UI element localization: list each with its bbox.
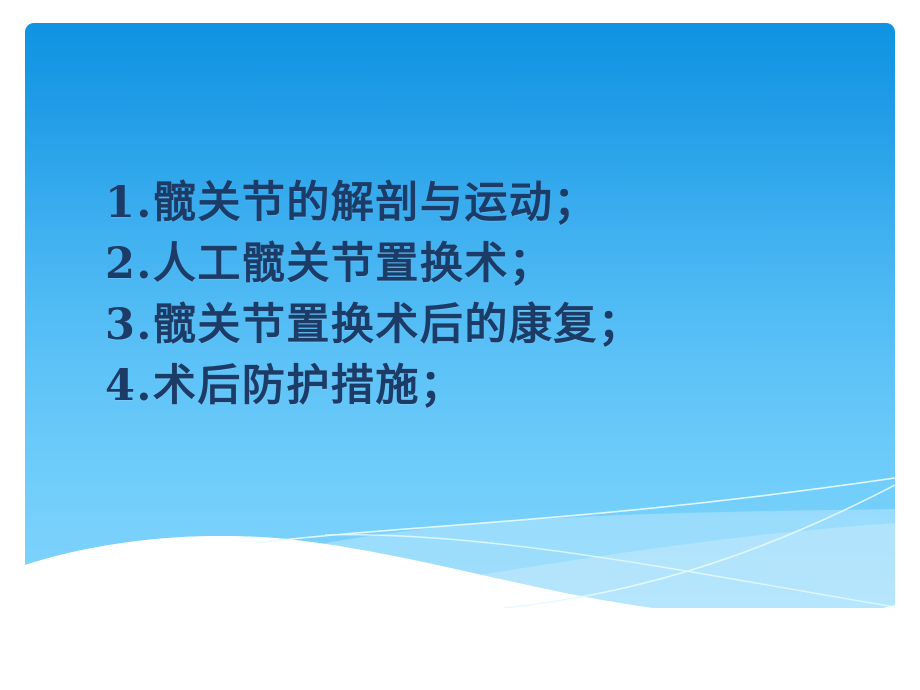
wave-line-falling-2 <box>325 535 895 607</box>
wave-primary-fill <box>25 536 895 608</box>
slide-canvas: 1.髋关节的解剖与运动； 2.人工髋关节置换术； 3.髋关节置换术后的康复； 4… <box>25 23 895 608</box>
body-line-2: 2.人工髋关节置换术； <box>105 234 865 295</box>
slide-root: 1.髋关节的解剖与运动； 2.人工髋关节置换术； 3.髋关节置换术后的康复； 4… <box>0 0 920 690</box>
body-line-3: 3.髋关节置换术后的康复； <box>105 295 865 356</box>
wave-line-falling <box>503 485 895 608</box>
wave-accent-band <box>275 509 895 608</box>
body-line-1: 1.髋关节的解剖与运动； <box>105 173 865 234</box>
wave-line-rising <box>255 478 895 543</box>
body-line-4: 4.术后防护措施； <box>105 356 865 417</box>
wave-accent-band-2 <box>455 523 895 608</box>
wave-primary-fill-lower <box>25 536 895 608</box>
body-text-block: 1.髋关节的解剖与运动； 2.人工髋关节置换术； 3.髋关节置换术后的康复； 4… <box>105 173 865 417</box>
